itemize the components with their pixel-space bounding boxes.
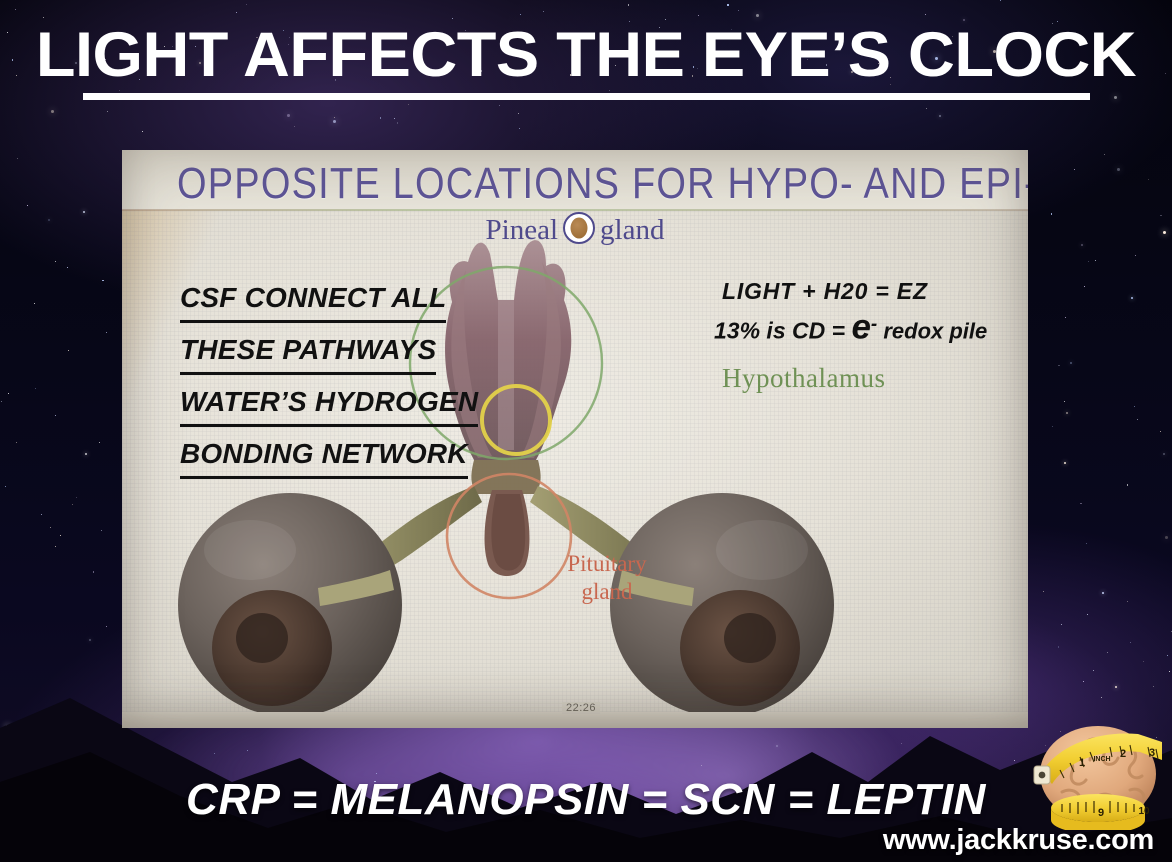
pineal-suffix: gland <box>600 214 664 246</box>
redox-tail: redox pile <box>877 319 987 344</box>
tape-mark-1: 1 <box>1079 757 1085 769</box>
right-annotation-line-1: LIGHT + H20 = EZ <box>722 275 1028 307</box>
pituitary-label-line-2: gland <box>542 578 672 606</box>
title-underline <box>83 93 1090 100</box>
page-title: LIGHT AFFECTS THE EYE’S CLOCK <box>0 22 1172 88</box>
anatomy-slide-panel: OPPOSITE LOCATIONS FOR HYPO- AND EPI- PH… <box>122 150 1028 728</box>
tape-mark-inch: INCH <box>1093 756 1110 763</box>
pineal-gland-icon <box>563 212 595 244</box>
pineal-gland-label: Pinealgland <box>122 212 1028 246</box>
left-annotation-line-4: BONDING NETWORK <box>180 432 468 479</box>
tape-mark-3: 3 <box>1149 747 1155 759</box>
panel-header-text: OPPOSITE LOCATIONS FOR HYPO- AND EPI- PH… <box>177 158 1028 210</box>
left-annotation-block: CSF CONNECT ALL THESE PATHWAYS WATER’S H… <box>180 271 560 484</box>
tape-mark-10: 10 <box>1138 806 1150 817</box>
slide-root: LIGHT AFFECTS THE EYE’S CLOCK <box>0 0 1172 862</box>
brain-with-measuring-tape-logo: 9 10 1 INCH 2 3 <box>1022 712 1172 830</box>
left-annotation-line-2: THESE PATHWAYS <box>180 328 436 375</box>
electron-symbol: e <box>851 308 870 347</box>
pituitary-gland-label: Pituitary gland <box>542 550 672 606</box>
bottom-caption: CRP = MELANOPSIN = SCN = LEPTIN <box>0 775 1172 825</box>
pituitary-label-line-1: Pituitary <box>542 550 672 578</box>
right-annotation-block: LIGHT + H20 = EZ 13% is CD = e- redox pi… <box>722 275 1028 350</box>
hypothalamus-label: Hypothalamus <box>722 363 885 393</box>
left-annotation-line-3: WATER’S HYDROGEN <box>180 380 478 427</box>
tape-mark-2: 2 <box>1120 748 1126 760</box>
right-annotation-line-2: 13% is CD = e- redox pile <box>714 307 1028 350</box>
pineal-prefix: Pineal <box>486 214 559 246</box>
frame-timestamp: 22:26 <box>562 702 600 714</box>
redox-prefix: 13% is CD = <box>714 318 851 344</box>
tape-mark-9: 9 <box>1098 807 1104 819</box>
left-annotation-line-1: CSF CONNECT ALL <box>180 276 446 323</box>
panel-bottom-bar <box>122 712 1028 728</box>
